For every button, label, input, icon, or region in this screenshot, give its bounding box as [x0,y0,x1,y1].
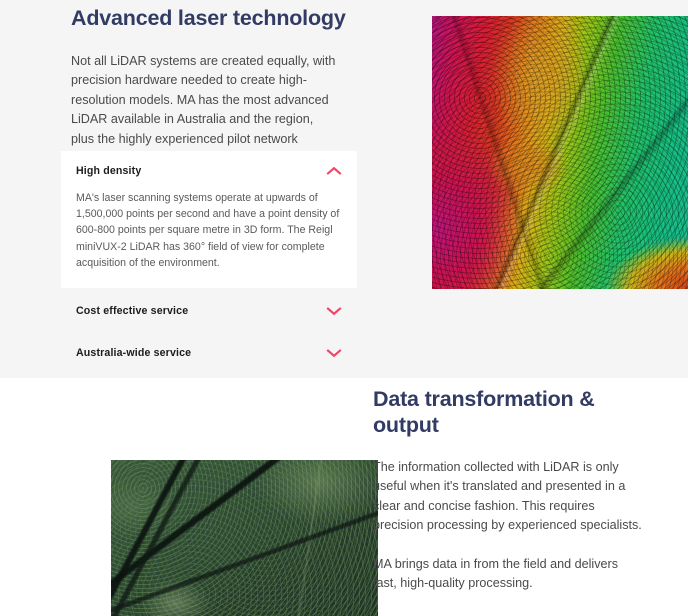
laser-accordion: High density MA's laser scanning systems… [61,151,357,372]
accordion-item-australia-wide-service[interactable]: Australia-wide service [61,333,357,372]
accordion-title: Australia-wide service [76,347,191,359]
accordion-item-cost-effective-service[interactable]: Cost effective service [61,291,357,330]
aerial-forest-image [111,460,378,616]
accordion-header-cost-effective-service[interactable]: Cost effective service [61,291,357,330]
chevron-up-icon[interactable] [326,166,342,176]
output-paragraph-2: MA brings data in from the field and del… [373,555,645,594]
data-transformation-section: Data transformation & output The informa… [0,378,688,600]
accordion-header-high-density[interactable]: High density [61,151,357,190]
aerial-vignette [111,460,378,616]
chevron-down-icon[interactable] [326,306,342,316]
lidar-heatmap-image [432,16,688,289]
accordion-title: High density [76,165,141,177]
output-text-column: Data transformation & output The informa… [373,378,658,593]
accordion-header-australia-wide-service[interactable]: Australia-wide service [61,333,357,372]
accordion-title: Cost effective service [76,305,188,317]
heatmap-point-speckle [432,16,688,289]
accordion-item-high-density[interactable]: High density MA's laser scanning systems… [61,151,357,288]
accordion-body-text: MA's laser scanning systems operate at u… [76,190,342,271]
output-section-title: Data transformation & output [373,378,658,438]
chevron-down-icon[interactable] [326,348,342,358]
accordion-panel-high-density: MA's laser scanning systems operate at u… [61,190,357,288]
output-paragraph-1: The information collected with LiDAR is … [373,458,645,536]
advanced-laser-technology-section: Advanced laser technology Not all LiDAR … [0,0,688,378]
page-title: Advanced laser technology [71,0,361,31]
